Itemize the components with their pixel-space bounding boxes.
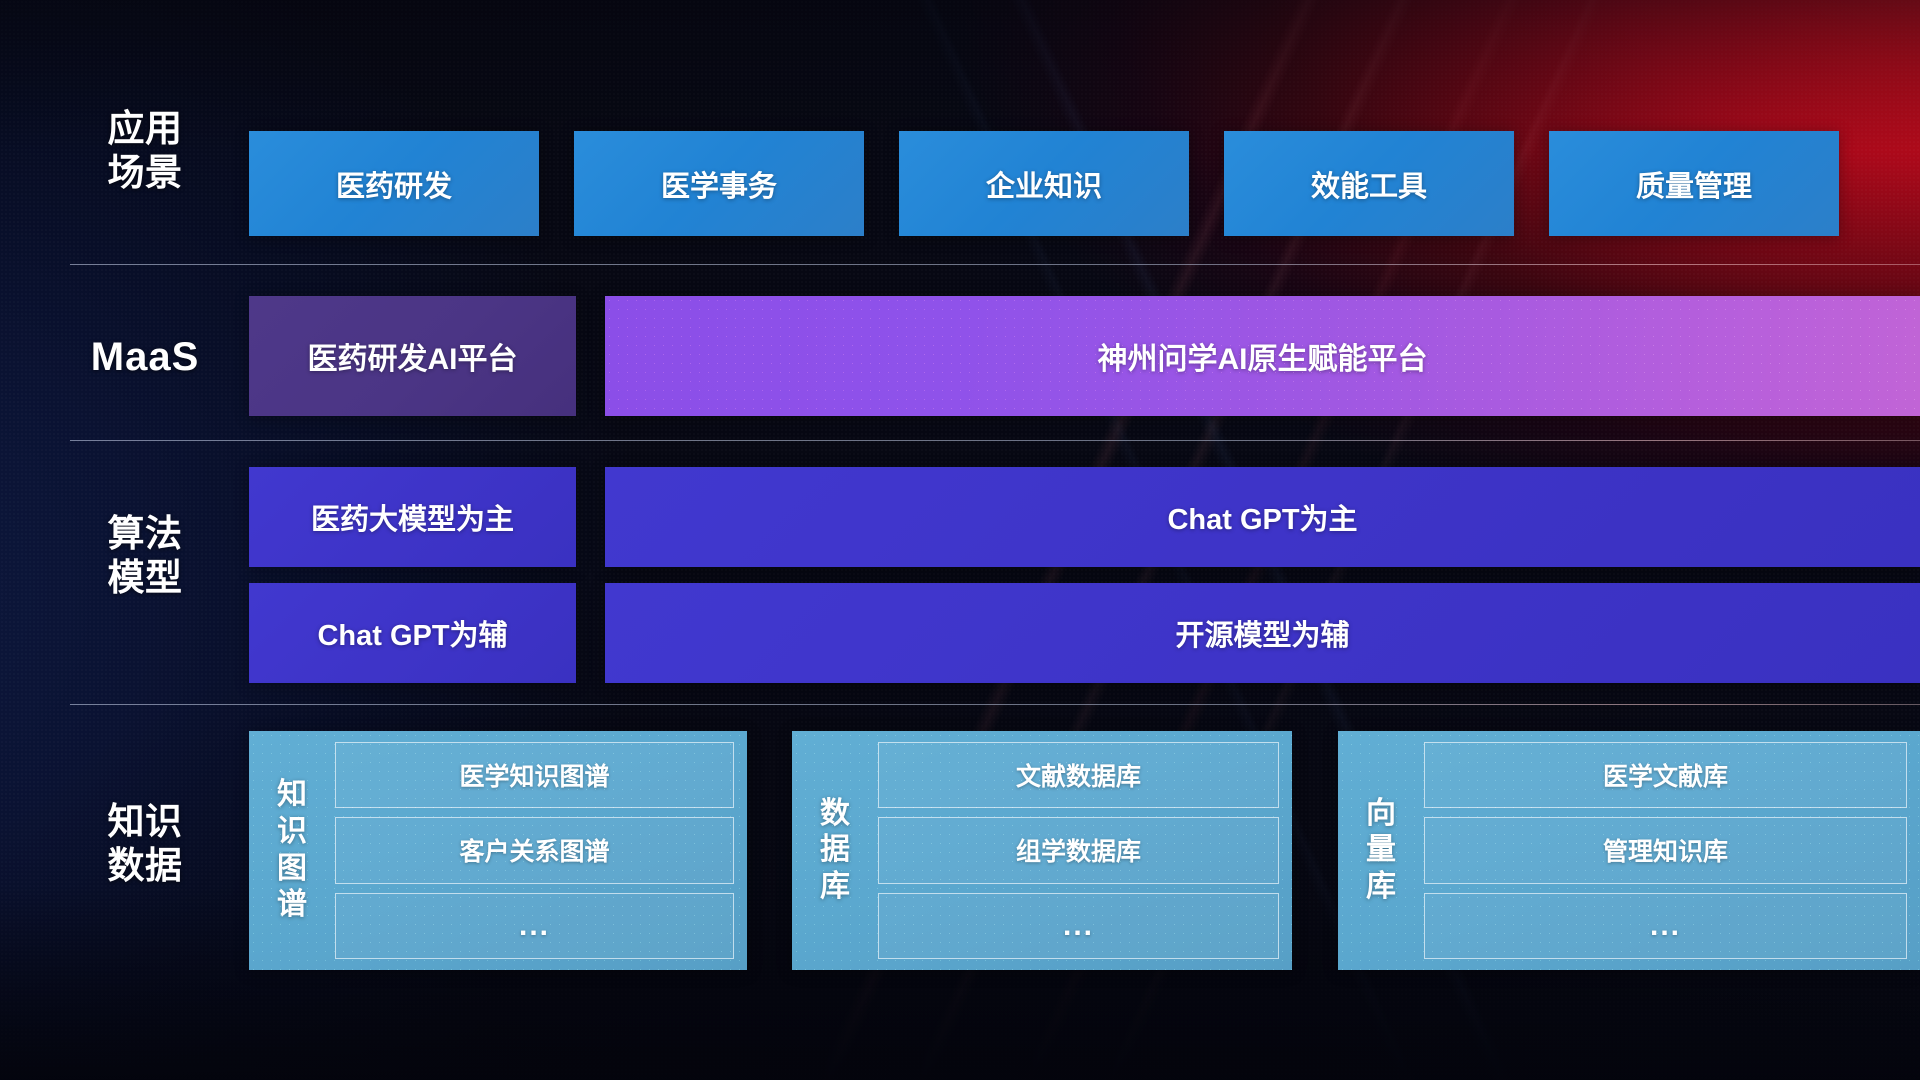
side-label-char: 库 [1338,869,1424,906]
app-card-label: 企业知识 [986,163,1102,205]
app-card-quality-management[interactable]: 质量管理 [1549,131,1839,236]
side-label-char: 知 [249,777,335,814]
app-card-label: 效能工具 [1311,163,1427,205]
row-label-line: 应用 [70,107,220,151]
row-label-line: 场景 [70,151,220,195]
app-card-label: 医药研发 [336,163,452,205]
side-label-char: 量 [1338,832,1424,869]
knowledge-item[interactable]: 医学知识图谱 [335,742,734,808]
algo-card-label: Chat GPT为主 [1167,496,1357,538]
knowledge-group-vector-store[interactable]: 向 量 库 医学文献库 管理知识库 ... [1338,731,1920,970]
row-label-application-scenarios: 应用 场景 [70,107,220,194]
side-label-char: 库 [792,869,878,906]
knowledge-item-list: 医学知识图谱 客户关系图谱 ... [335,742,734,959]
algo-card-chatgpt-secondary[interactable]: Chat GPT为辅 [249,583,576,683]
row-label-maas: MaaS [70,334,220,381]
maas-card-label: 神州问学AI原生赋能平台 [1098,334,1428,378]
knowledge-group-side-label: 知 识 图 谱 [249,777,335,923]
side-label-char: 识 [249,814,335,851]
maas-card-label: 医药研发AI平台 [308,334,518,378]
app-card-efficiency-tools[interactable]: 效能工具 [1224,131,1514,236]
app-card-medicine-rnd[interactable]: 医药研发 [249,131,539,236]
row-label-line: 知识 [70,800,220,844]
divider-after-maas [70,440,1920,441]
slide-canvas: 应用 场景 医药研发 医学事务 企业知识 效能工具 质量管理 MaaS 医药研发… [0,0,1920,1080]
algo-card-chatgpt-primary[interactable]: Chat GPT为主 [605,467,1920,567]
algo-card-label: 开源模型为辅 [1175,612,1349,654]
knowledge-item-list: 文献数据库 组学数据库 ... [878,742,1279,959]
side-label-char: 谱 [249,887,335,924]
architecture-diagram: 应用 场景 医药研发 医学事务 企业知识 效能工具 质量管理 MaaS 医药研发… [0,0,1920,1080]
app-card-medical-affairs[interactable]: 医学事务 [574,131,864,236]
side-label-char: 数 [792,796,878,833]
knowledge-group-side-label: 向 量 库 [1338,796,1424,906]
knowledge-group-side-label: 数 据 库 [792,796,878,906]
side-label-char: 据 [792,832,878,869]
knowledge-item-more[interactable]: ... [335,893,734,959]
knowledge-item[interactable]: 医学文献库 [1424,742,1907,808]
algo-card-label: 医药大模型为主 [311,496,514,538]
row-label-line: 模型 [70,556,220,600]
knowledge-item[interactable]: 组学数据库 [878,817,1279,883]
side-label-char: 图 [249,851,335,888]
row-label-line: 算法 [70,512,220,556]
row-label-knowledge-data: 知识 数据 [70,800,220,887]
app-card-enterprise-knowledge[interactable]: 企业知识 [899,131,1189,236]
row-label-line: MaaS [70,334,220,381]
algo-card-opensource-secondary[interactable]: 开源模型为辅 [605,583,1920,683]
algo-card-pharma-llm-primary[interactable]: 医药大模型为主 [249,467,576,567]
knowledge-item[interactable]: 管理知识库 [1424,817,1907,883]
knowledge-item[interactable]: 文献数据库 [878,742,1279,808]
knowledge-item-list: 医学文献库 管理知识库 ... [1424,742,1907,959]
knowledge-group-database[interactable]: 数 据 库 文献数据库 组学数据库 ... [792,731,1292,970]
app-card-label: 医学事务 [661,163,777,205]
row-label-line: 数据 [70,844,220,888]
divider-after-algorithm-models [70,704,1920,705]
maas-card-shenzhou-wenxue-platform[interactable]: 神州问学AI原生赋能平台 [605,296,1920,416]
divider-after-application-scenarios [70,264,1920,265]
row-label-algorithm-models: 算法 模型 [70,512,220,599]
knowledge-group-knowledge-graph[interactable]: 知 识 图 谱 医学知识图谱 客户关系图谱 ... [249,731,747,970]
knowledge-item-more[interactable]: ... [878,893,1279,959]
knowledge-item-more[interactable]: ... [1424,893,1907,959]
algo-card-label: Chat GPT为辅 [317,612,507,654]
maas-card-pharma-ai-platform[interactable]: 医药研发AI平台 [249,296,576,416]
side-label-char: 向 [1338,796,1424,833]
knowledge-item[interactable]: 客户关系图谱 [335,817,734,883]
app-card-label: 质量管理 [1636,163,1752,205]
